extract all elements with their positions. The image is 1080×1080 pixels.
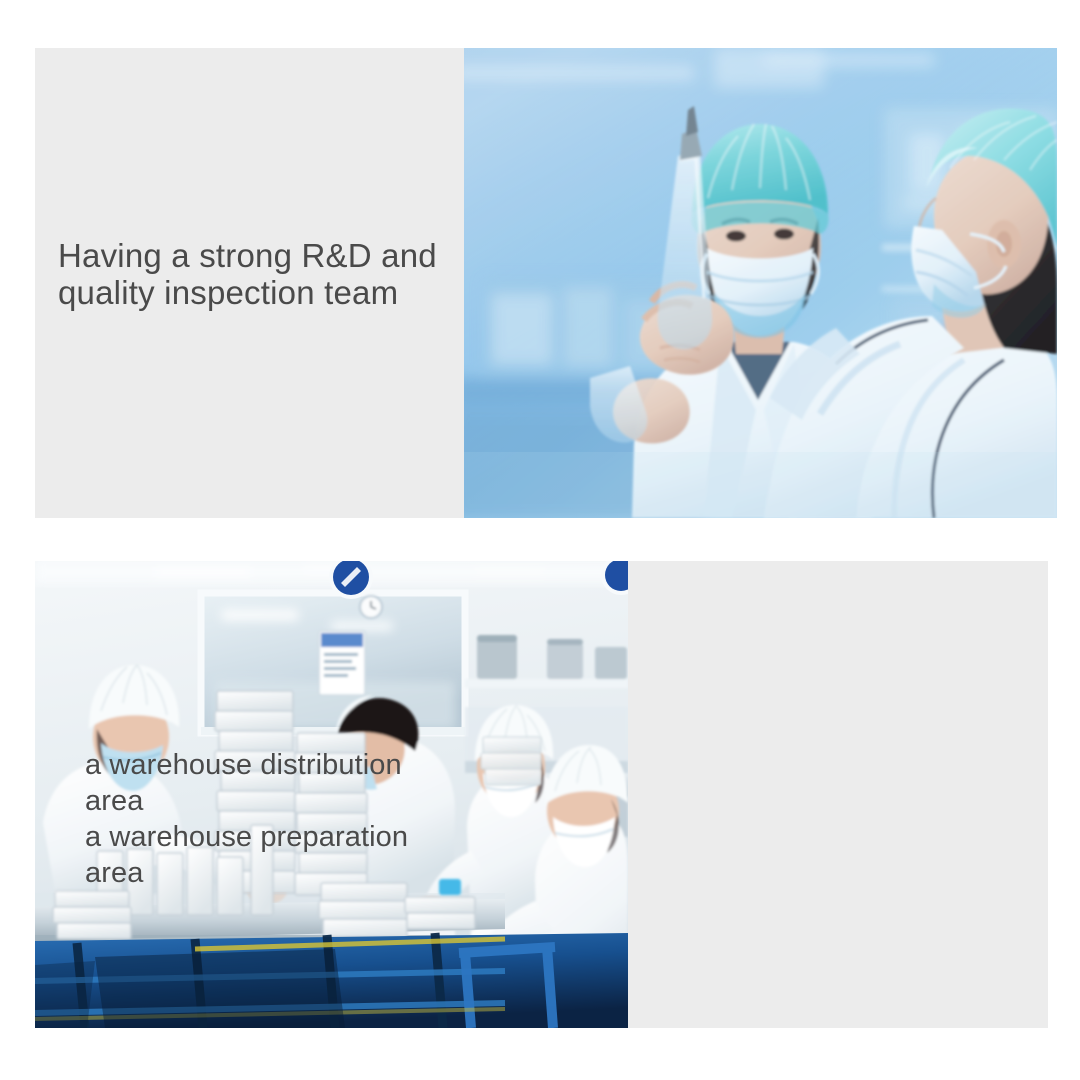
section-warehouse: a warehouse distribution area a warehous… xyxy=(35,561,1048,1028)
section-rnd-quality: Having a strong R&D and quality inspecti… xyxy=(35,48,1057,518)
caption-warehouse: a warehouse distribution area a warehous… xyxy=(85,747,455,891)
caption-rnd-quality: Having a strong R&D and quality inspecti… xyxy=(58,237,453,311)
lab-technicians-photo xyxy=(464,48,1057,518)
caption-panel-bottom xyxy=(628,561,1048,1028)
page-root: Having a strong R&D and quality inspecti… xyxy=(0,0,1080,1080)
